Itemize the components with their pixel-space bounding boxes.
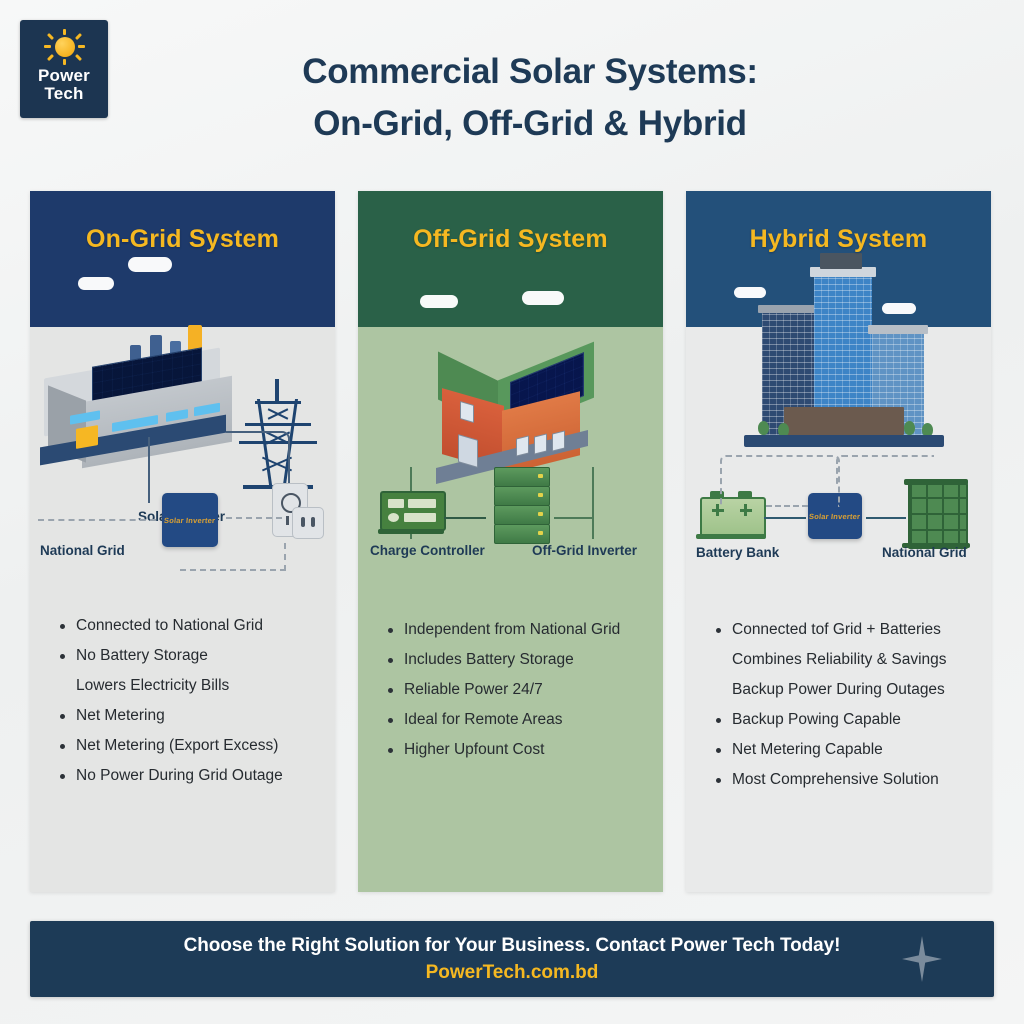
title-line-2: On-Grid, Off-Grid & Hybrid — [150, 98, 910, 150]
four-point-star-icon — [902, 936, 942, 982]
bullet-item: Higher Upfount Cost — [378, 735, 643, 765]
bullet-item: Backup Powing Capable — [706, 705, 971, 735]
footer-cta-banner: Choose the Right Solution for Your Busin… — [30, 921, 994, 997]
diagram-devices-on-grid: Solar Inverter National Grid — [30, 559, 335, 615]
card-off-grid: Off-Grid System — [358, 191, 663, 892]
power-socket-icon — [292, 507, 324, 539]
cloud-icon — [522, 291, 564, 305]
bullet-item: Most Comprehensive Solution — [706, 765, 971, 795]
cloud-icon — [78, 277, 114, 290]
battery-stack-icon — [490, 467, 552, 545]
bullet-item: Lowers Electricity Bills — [50, 671, 315, 701]
label-charge-controller: Charge Controller — [370, 543, 485, 558]
page-title: Commercial Solar Systems: On-Grid, Off-G… — [150, 46, 910, 150]
bullet-item: Includes Battery Storage — [378, 645, 643, 675]
logo-text-line1: Power — [38, 67, 90, 85]
bullet-item: Independent from National Grid — [378, 615, 643, 645]
label-national-grid: National Grid — [40, 543, 125, 558]
bullet-item: Backup Power During Outages — [706, 675, 971, 705]
card-on-grid: On-Grid System — [30, 191, 335, 892]
bullet-list-on-grid: Connected to National Grid No Battery St… — [30, 611, 335, 791]
bullet-item: No Battery Storage — [50, 641, 315, 671]
bullet-item: Net Metering — [50, 701, 315, 731]
sun-icon — [42, 29, 86, 65]
national-grid-icon — [908, 483, 968, 549]
card-hybrid: Hybrid System — [686, 191, 991, 892]
card-title-hybrid: Hybrid System — [750, 225, 928, 254]
card-header-on-grid: On-Grid System — [30, 191, 335, 327]
bullet-item: No Power During Grid Outage — [50, 761, 315, 791]
title-line-1: Commercial Solar Systems: — [150, 46, 910, 98]
house-illustration — [436, 345, 604, 477]
cloud-icon — [128, 257, 172, 272]
card-title-on-grid: On-Grid System — [86, 225, 279, 254]
label-battery-bank: Battery Bank — [696, 545, 779, 560]
brand-logo: Power Tech — [20, 20, 108, 118]
logo-text-line2: Tech — [38, 85, 90, 103]
footer-cta-text: Choose the Right Solution for Your Busin… — [184, 935, 841, 957]
card-title-off-grid: Off-Grid System — [413, 225, 608, 254]
diagram-devices-off-grid: Charge Controller Off-Grid Inverter — [358, 559, 663, 619]
card-header-off-grid: Off-Grid System — [358, 191, 663, 327]
diagram-devices-hybrid: Solar Inverter Battery Bank National Gri… — [686, 559, 991, 619]
label-off-grid-inverter: Off-Grid Inverter — [532, 543, 637, 558]
solar-inverter-box: Solar Inverter — [162, 493, 218, 547]
label-national-grid-hybrid: National Grid — [882, 545, 967, 560]
bullet-item: Reliable Power 24/7 — [378, 675, 643, 705]
bullet-item: Connected to National Grid — [50, 611, 315, 641]
cloud-icon — [420, 295, 458, 308]
bullet-item: Combines Reliability & Savings — [706, 645, 971, 675]
bullet-item: Ideal for Remote Areas — [378, 705, 643, 735]
cloud-icon — [882, 303, 916, 314]
charge-controller-icon — [380, 491, 446, 531]
infographic-page: Power Tech Commercial Solar Systems: On-… — [0, 0, 1024, 1024]
comparison-columns: On-Grid System — [0, 191, 1024, 894]
bullet-list-hybrid: Connected tof Grid + Batteries Combines … — [686, 615, 991, 795]
bullet-item: Net Metering Capable — [706, 735, 971, 765]
bullet-item: Connected tof Grid + Batteries — [706, 615, 971, 645]
bullet-list-off-grid: Independent from National Grid Includes … — [358, 615, 663, 765]
city-buildings-illustration — [744, 249, 944, 445]
cloud-icon — [734, 287, 766, 298]
bullet-item: Net Metering (Export Excess) — [50, 731, 315, 761]
footer-website-link[interactable]: PowerTech.com.bd — [426, 962, 599, 984]
